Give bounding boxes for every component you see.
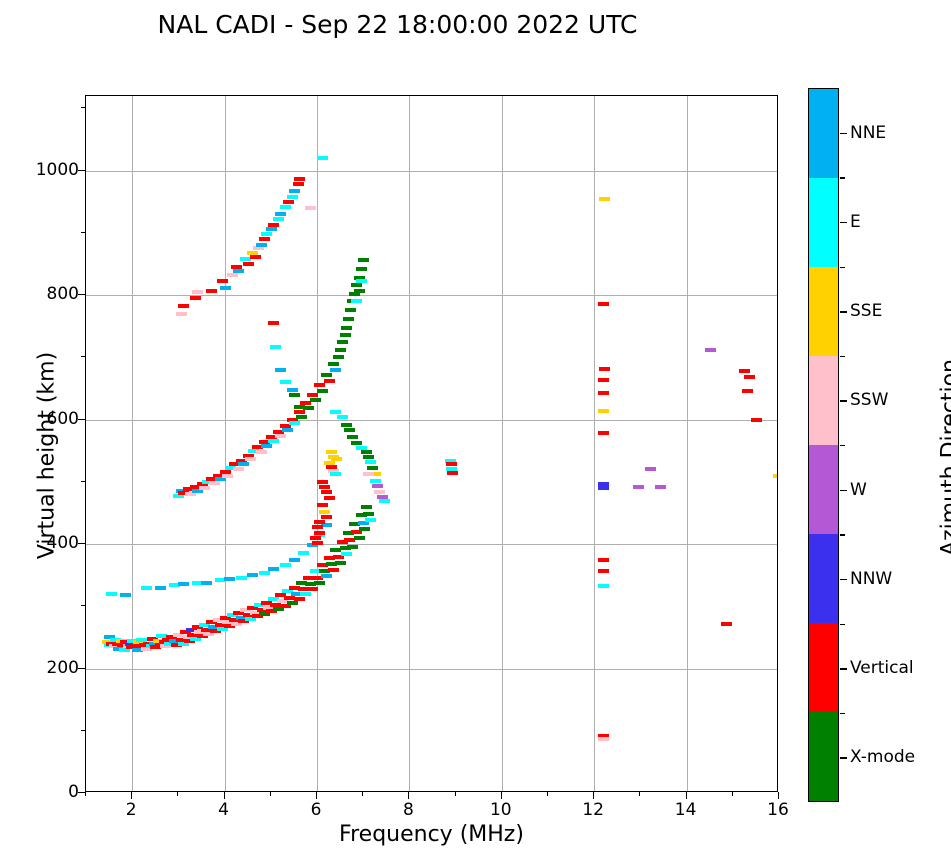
data-point xyxy=(296,415,307,419)
data-point xyxy=(374,490,385,494)
y-tick-major xyxy=(78,668,85,669)
y-tick-minor xyxy=(81,481,85,482)
plot-area xyxy=(86,96,777,791)
data-point xyxy=(233,269,244,273)
y-tick-minor xyxy=(81,356,85,357)
data-point xyxy=(310,536,321,540)
colorbar-boundary-tick xyxy=(840,177,845,178)
data-point xyxy=(324,496,335,500)
gridline-vertical xyxy=(132,96,133,791)
data-point xyxy=(256,243,267,247)
data-point xyxy=(294,177,305,181)
data-point xyxy=(598,558,609,562)
data-point xyxy=(363,455,374,459)
gridline-vertical xyxy=(317,96,318,791)
data-point xyxy=(259,237,270,241)
data-point xyxy=(356,267,367,271)
data-point xyxy=(599,367,610,371)
data-point xyxy=(273,217,284,221)
data-point xyxy=(333,355,344,359)
data-point xyxy=(250,255,261,259)
data-point xyxy=(312,525,323,529)
y-tick-major xyxy=(78,294,85,295)
colorbar-segment-x-mode xyxy=(809,712,838,801)
data-point xyxy=(176,312,187,316)
chart-title: NAL CADI - Sep 22 18:00:00 2022 UTC xyxy=(0,10,795,39)
data-point xyxy=(236,576,247,580)
data-point xyxy=(287,388,298,392)
data-point xyxy=(739,369,750,373)
data-point xyxy=(201,581,212,585)
colorbar-boundary-tick xyxy=(840,356,845,357)
colorbar-tick xyxy=(840,133,847,134)
data-point xyxy=(337,415,348,419)
x-tick-label: 2 xyxy=(126,800,137,820)
y-tick-minor xyxy=(81,605,85,606)
data-point xyxy=(328,362,339,366)
plot-frame xyxy=(85,95,778,792)
data-point xyxy=(280,380,291,384)
colorbar-segment-e xyxy=(809,178,838,267)
colorbar-boundary-tick xyxy=(840,624,845,625)
data-point xyxy=(379,499,390,503)
colorbar-label-sse: SSE xyxy=(850,301,882,321)
gridline-horizontal xyxy=(86,669,777,670)
data-point xyxy=(321,373,332,377)
data-point xyxy=(317,389,328,393)
data-point xyxy=(335,348,346,352)
data-point xyxy=(324,379,335,383)
x-tick-label: 8 xyxy=(403,800,414,820)
data-point xyxy=(280,563,291,567)
data-point xyxy=(280,205,291,209)
x-tick-major xyxy=(501,792,502,799)
x-tick-label: 14 xyxy=(675,800,697,820)
data-point xyxy=(294,597,305,601)
data-point xyxy=(321,490,332,494)
data-point xyxy=(598,486,609,490)
data-point xyxy=(178,304,189,308)
x-tick-label: 4 xyxy=(218,800,229,820)
data-point xyxy=(345,308,356,312)
data-point xyxy=(351,299,362,303)
data-point xyxy=(120,593,131,597)
data-point xyxy=(217,279,228,283)
data-point xyxy=(222,474,233,478)
data-point xyxy=(341,552,352,556)
x-tick-minor xyxy=(547,792,548,796)
x-tick-major xyxy=(593,792,594,799)
data-point xyxy=(372,484,383,488)
data-point xyxy=(283,200,294,204)
y-tick-major xyxy=(78,792,85,793)
x-tick-minor xyxy=(270,792,271,796)
data-point xyxy=(751,418,762,422)
colorbar-tick xyxy=(840,490,847,491)
data-point xyxy=(141,586,152,590)
data-point xyxy=(298,551,309,555)
data-point xyxy=(330,368,341,372)
data-point xyxy=(317,503,328,507)
x-axis-title: Frequency (MHz) xyxy=(85,822,778,847)
colorbar-label-nne: NNE xyxy=(850,123,886,143)
data-point xyxy=(178,582,189,586)
colorbar-label-w: W xyxy=(850,480,867,500)
data-point xyxy=(326,450,337,454)
data-point xyxy=(220,286,231,290)
data-point xyxy=(319,485,330,489)
data-point xyxy=(233,467,244,471)
data-point xyxy=(599,197,610,201)
data-point xyxy=(361,450,372,454)
data-point xyxy=(268,439,279,443)
data-point xyxy=(192,290,203,294)
x-tick-label: 12 xyxy=(582,800,604,820)
data-point xyxy=(335,561,346,565)
data-point xyxy=(206,289,217,293)
data-point xyxy=(293,182,304,186)
data-point xyxy=(289,421,300,425)
data-point xyxy=(275,434,286,438)
data-point xyxy=(356,279,367,283)
data-point xyxy=(361,505,372,509)
data-point xyxy=(365,460,376,464)
colorbar-title: Azimuth Direction xyxy=(938,298,951,618)
data-point xyxy=(275,212,286,216)
data-point xyxy=(351,441,362,445)
gridline-horizontal xyxy=(86,544,777,545)
data-point xyxy=(106,592,117,596)
data-point xyxy=(266,227,277,231)
data-point xyxy=(363,472,374,476)
colorbar-tick xyxy=(840,311,847,312)
data-point xyxy=(633,485,644,489)
data-point xyxy=(340,333,351,337)
data-point xyxy=(247,573,258,577)
data-point xyxy=(645,467,656,471)
data-point xyxy=(307,587,318,591)
data-point xyxy=(321,574,332,578)
colorbar-segment-vertical xyxy=(809,623,838,712)
y-tick-label: 200 xyxy=(47,658,79,678)
data-point xyxy=(275,368,286,372)
data-point xyxy=(363,512,374,516)
data-point xyxy=(312,541,323,545)
data-point xyxy=(305,206,316,210)
gridline-vertical xyxy=(225,96,226,791)
data-point xyxy=(280,604,291,608)
colorbar xyxy=(808,88,839,802)
data-point xyxy=(598,409,609,413)
gridline-vertical xyxy=(409,96,410,791)
ionogram-figure: NAL CADI - Sep 22 18:00:00 2022 UTC 2468… xyxy=(0,0,951,856)
data-point xyxy=(268,567,279,571)
data-point xyxy=(721,622,732,626)
data-point xyxy=(185,492,196,496)
data-point xyxy=(314,520,325,524)
data-point xyxy=(344,428,355,432)
x-tick-major xyxy=(686,792,687,799)
data-point xyxy=(310,398,321,402)
data-point xyxy=(341,423,352,427)
data-point xyxy=(598,584,609,588)
data-point xyxy=(268,321,279,325)
y-tick-label: 1000 xyxy=(36,160,79,180)
data-point xyxy=(314,531,325,535)
gridline-vertical xyxy=(502,96,503,791)
colorbar-tick xyxy=(840,668,847,669)
colorbar-tick xyxy=(840,222,847,223)
x-tick-minor xyxy=(177,792,178,796)
data-point xyxy=(287,195,298,199)
x-tick-minor xyxy=(455,792,456,796)
colorbar-label-nnw: NNW xyxy=(850,569,892,589)
data-point xyxy=(209,481,220,485)
colorbar-segment-nnw xyxy=(809,534,838,623)
y-tick-major xyxy=(78,419,85,420)
data-point xyxy=(773,474,777,478)
data-point xyxy=(330,472,341,476)
colorbar-tick xyxy=(840,579,847,580)
data-point xyxy=(367,466,378,470)
data-point xyxy=(224,577,235,581)
data-point xyxy=(314,383,325,387)
data-point xyxy=(598,569,609,573)
data-point xyxy=(243,262,254,266)
data-point xyxy=(261,232,272,236)
y-tick-major xyxy=(78,170,85,171)
data-point xyxy=(343,317,354,321)
data-point xyxy=(358,258,369,262)
data-point xyxy=(330,410,341,414)
data-point xyxy=(300,592,311,596)
data-point xyxy=(341,326,352,330)
colorbar-tick xyxy=(840,757,847,758)
data-point xyxy=(287,601,298,605)
data-point xyxy=(705,348,716,352)
data-point xyxy=(294,410,305,414)
colorbar-boundary-tick xyxy=(840,713,845,714)
data-point xyxy=(190,296,201,300)
gridline-vertical xyxy=(594,96,595,791)
y-tick-label: 800 xyxy=(47,284,79,304)
colorbar-segment-ssw xyxy=(809,356,838,445)
data-point xyxy=(270,345,281,349)
data-point xyxy=(319,510,330,514)
data-point xyxy=(328,568,339,572)
data-point xyxy=(155,586,166,590)
data-point xyxy=(307,393,318,397)
x-tick-major xyxy=(408,792,409,799)
data-point xyxy=(598,302,609,306)
data-point xyxy=(447,471,458,475)
data-point xyxy=(256,450,267,454)
data-point xyxy=(655,485,666,489)
data-point xyxy=(354,536,365,540)
data-point xyxy=(354,289,365,293)
data-point xyxy=(294,405,305,409)
data-point xyxy=(245,457,256,461)
data-point xyxy=(347,435,358,439)
x-tick-major xyxy=(131,792,132,799)
data-point xyxy=(337,340,348,344)
data-point xyxy=(598,378,609,382)
y-tick-label: 0 xyxy=(68,782,79,802)
data-point xyxy=(289,189,300,193)
x-tick-minor xyxy=(639,792,640,796)
x-tick-label: 16 xyxy=(767,800,789,820)
data-point xyxy=(744,375,755,379)
data-point xyxy=(314,581,325,585)
data-point xyxy=(321,515,332,519)
data-point xyxy=(199,486,210,490)
data-point xyxy=(370,479,381,483)
y-tick-major xyxy=(78,543,85,544)
data-point xyxy=(282,428,293,432)
data-point xyxy=(359,527,370,531)
data-point xyxy=(268,223,279,227)
data-point xyxy=(598,431,609,435)
x-tick-minor xyxy=(732,792,733,796)
colorbar-segment-sse xyxy=(809,267,838,356)
colorbar-boundary-tick xyxy=(840,445,845,446)
data-point xyxy=(347,545,358,549)
colorbar-label-vertical: Vertical xyxy=(850,658,914,678)
gridline-vertical xyxy=(687,96,688,791)
data-point xyxy=(351,283,362,287)
data-point xyxy=(238,462,249,466)
x-tick-minor xyxy=(85,792,86,796)
data-point xyxy=(365,518,376,522)
y-tick-minor xyxy=(81,232,85,233)
data-point xyxy=(598,391,609,395)
x-tick-label: 6 xyxy=(311,800,322,820)
data-point xyxy=(215,477,226,481)
data-point xyxy=(231,265,242,269)
data-point xyxy=(317,480,328,484)
data-point xyxy=(598,737,609,741)
x-tick-minor xyxy=(362,792,363,796)
y-axis-title: Virtual height (km) xyxy=(35,306,60,606)
x-tick-major xyxy=(316,792,317,799)
x-tick-label: 10 xyxy=(490,800,512,820)
data-point xyxy=(261,444,272,448)
gridline-horizontal xyxy=(86,420,777,421)
colorbar-label-x-mode: X-mode xyxy=(850,747,915,767)
colorbar-segment-w xyxy=(809,445,838,534)
x-tick-major xyxy=(224,792,225,799)
data-point xyxy=(227,273,238,277)
data-point xyxy=(317,156,328,160)
colorbar-boundary-tick xyxy=(840,534,845,535)
data-point xyxy=(289,558,300,562)
colorbar-label-e: E xyxy=(850,212,861,232)
colorbar-label-ssw: SSW xyxy=(850,390,888,410)
data-point xyxy=(289,393,300,397)
colorbar-segment-nne xyxy=(809,89,838,178)
y-tick-minor xyxy=(81,730,85,731)
x-tick-major xyxy=(778,792,779,799)
data-point xyxy=(259,571,270,575)
gridline-horizontal xyxy=(86,171,777,172)
y-tick-minor xyxy=(81,107,85,108)
colorbar-boundary-tick xyxy=(840,267,845,268)
data-point xyxy=(742,389,753,393)
colorbar-tick xyxy=(840,400,847,401)
